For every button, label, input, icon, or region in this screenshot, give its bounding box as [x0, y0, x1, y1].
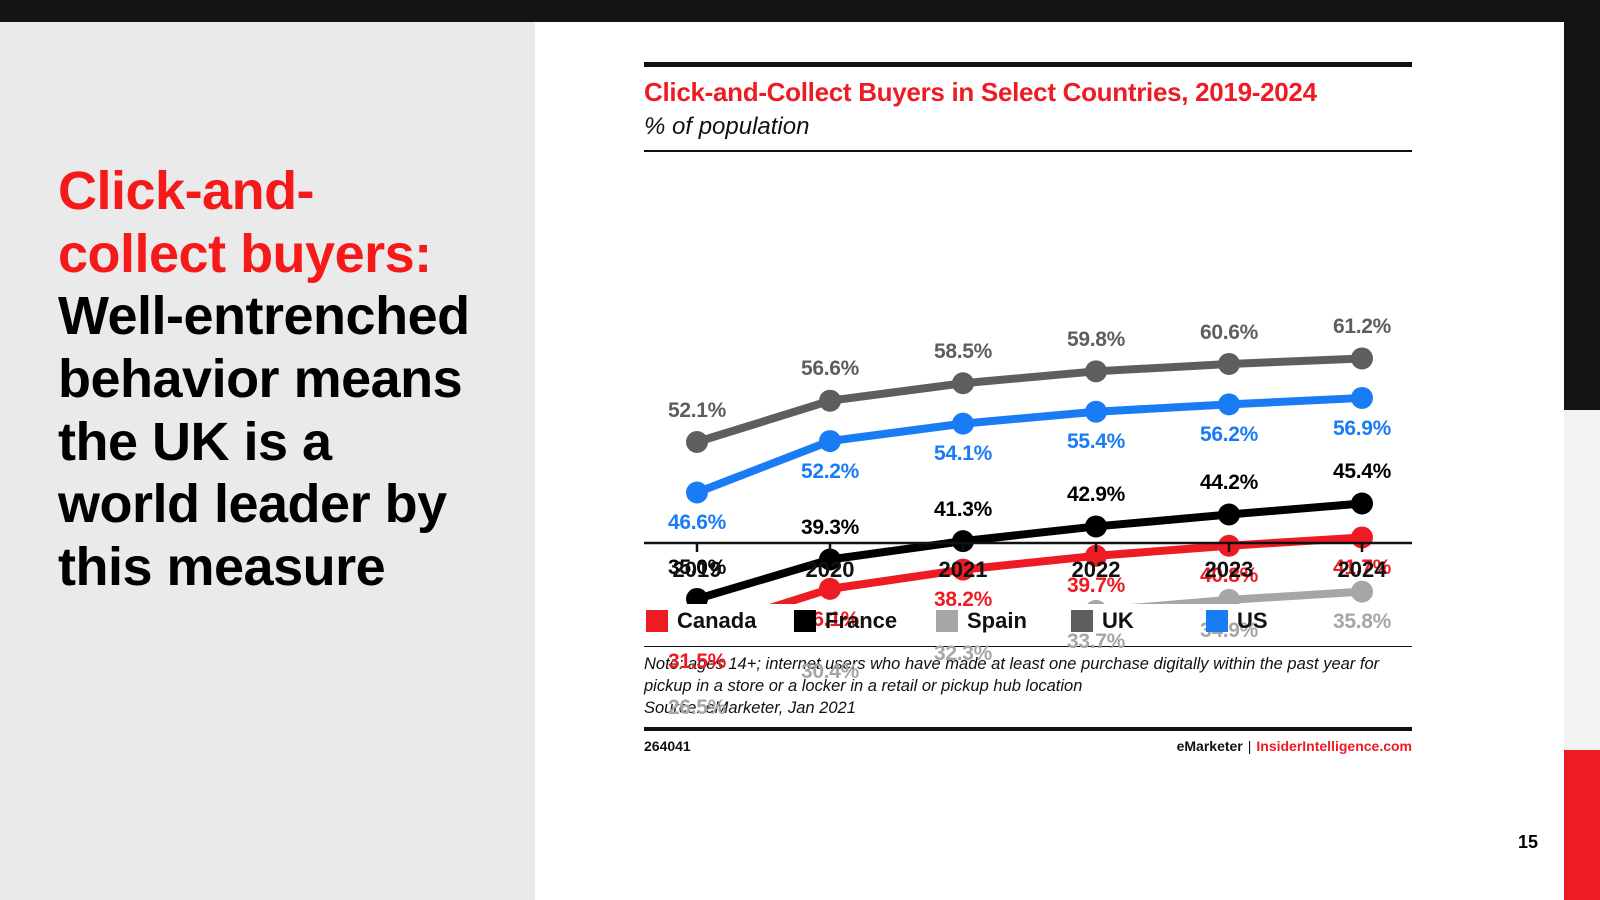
- legend-label-france: France: [825, 608, 897, 634]
- series-point-uk-2021[interactable]: [952, 372, 974, 394]
- chart-footer-brand: eMarketer|InsiderIntelligence.com: [1177, 738, 1412, 754]
- value-label-canada-2019: 31.5%: [668, 650, 726, 674]
- chart-lines-svg: [644, 152, 1412, 604]
- value-label-spain-2019: 26.5%: [668, 696, 726, 720]
- value-label-us-2023: 56.2%: [1200, 423, 1258, 447]
- chart-note-text: Note: ages 14+; internet users who have …: [644, 654, 1412, 698]
- series-point-france-2022[interactable]: [1085, 515, 1107, 537]
- legend-item-france[interactable]: France: [794, 608, 897, 634]
- value-label-us-2024: 56.9%: [1333, 417, 1391, 441]
- value-label-uk-2024: 61.2%: [1333, 315, 1391, 339]
- series-point-uk-2019[interactable]: [686, 431, 708, 453]
- legend-label-spain: Spain: [967, 608, 1027, 634]
- slide-right-red-band: [1564, 750, 1600, 900]
- value-label-uk-2023: 60.6%: [1200, 321, 1258, 345]
- chart-footer-id: 264041: [644, 738, 691, 754]
- series-point-uk-2024[interactable]: [1351, 347, 1373, 369]
- chart-top-rule: [644, 62, 1412, 67]
- value-label-uk-2022: 59.8%: [1067, 328, 1125, 352]
- value-label-france-2021: 41.3%: [934, 498, 992, 522]
- legend-item-spain[interactable]: Spain: [936, 608, 1027, 634]
- slide-headline: Click-and-collect buyers: Well-entrenche…: [58, 160, 478, 598]
- legend-label-uk: UK: [1102, 608, 1134, 634]
- chart-legend: CanadaFranceSpainUKUS: [644, 608, 1412, 646]
- chart-notes: Note: ages 14+; internet users who have …: [644, 654, 1412, 720]
- legend-item-canada[interactable]: Canada: [646, 608, 756, 634]
- x-tick-label-2023: 2023: [1205, 557, 1254, 583]
- series-point-us-2024[interactable]: [1351, 387, 1373, 409]
- x-tick-label-2022: 2022: [1072, 557, 1121, 583]
- value-label-france-2023: 44.2%: [1200, 471, 1258, 495]
- x-tick-label-2020: 2020: [806, 557, 855, 583]
- series-point-france-2023[interactable]: [1218, 503, 1240, 525]
- series-line-france: [697, 503, 1362, 598]
- value-label-us-2019: 46.6%: [668, 511, 726, 535]
- value-label-uk-2019: 52.1%: [668, 399, 726, 423]
- series-point-spain-2022[interactable]: [1085, 600, 1107, 604]
- footer-top-rule: [644, 727, 1412, 731]
- brand-separator: |: [1248, 738, 1252, 754]
- value-label-us-2022: 55.4%: [1067, 430, 1125, 454]
- slide-right-gray-band: [1564, 410, 1600, 750]
- headline-black-text: Well-entrenched behavior means the UK is…: [58, 286, 470, 597]
- x-tick-label-2024: 2024: [1338, 557, 1387, 583]
- series-point-us-2020[interactable]: [819, 430, 841, 452]
- value-label-spain-2021: 32.3%: [934, 642, 992, 666]
- slide-right-dark-band: [1564, 0, 1600, 410]
- series-point-france-2019[interactable]: [686, 588, 708, 604]
- legend-item-us[interactable]: US: [1206, 608, 1268, 634]
- slide-top-band: [0, 0, 1600, 22]
- headline-red-text: Click-and-collect buyers:: [58, 161, 432, 284]
- chart-plot-area: 31.5%36.1%38.2%39.7%40.8%41.7%35.0%39.3%…: [644, 152, 1412, 604]
- series-point-us-2021[interactable]: [952, 412, 974, 434]
- notes-top-divider: [644, 646, 1412, 648]
- chart-title: Click-and-Collect Buyers in Select Count…: [644, 77, 1412, 107]
- series-point-uk-2023[interactable]: [1218, 353, 1240, 375]
- chart-footer: 264041 eMarketer|InsiderIntelligence.com: [644, 738, 1412, 754]
- value-label-france-2024: 45.4%: [1333, 460, 1391, 484]
- x-tick-label-2019: 2019: [673, 557, 722, 583]
- legend-swatch-us: [1206, 610, 1228, 632]
- brand-insider-intelligence[interactable]: InsiderIntelligence.com: [1256, 738, 1412, 754]
- value-label-us-2021: 54.1%: [934, 442, 992, 466]
- value-label-us-2020: 52.2%: [801, 460, 859, 484]
- series-point-spain-2023[interactable]: [1218, 589, 1240, 604]
- brand-emarketer: eMarketer: [1177, 738, 1243, 754]
- legend-item-uk[interactable]: UK: [1071, 608, 1134, 634]
- legend-swatch-uk: [1071, 610, 1093, 632]
- legend-swatch-france: [794, 610, 816, 632]
- series-point-uk-2020[interactable]: [819, 389, 841, 411]
- chart-card: Click-and-Collect Buyers in Select Count…: [644, 62, 1412, 832]
- legend-label-canada: Canada: [677, 608, 756, 634]
- legend-swatch-spain: [936, 610, 958, 632]
- legend-swatch-canada: [646, 610, 668, 632]
- series-point-uk-2022[interactable]: [1085, 360, 1107, 382]
- series-point-france-2024[interactable]: [1351, 492, 1373, 514]
- series-point-spain-2024[interactable]: [1351, 580, 1373, 602]
- value-label-uk-2021: 58.5%: [934, 340, 992, 364]
- value-label-france-2022: 42.9%: [1067, 483, 1125, 507]
- value-label-france-2020: 39.3%: [801, 516, 859, 540]
- legend-label-us: US: [1237, 608, 1268, 634]
- x-tick-label-2021: 2021: [939, 557, 988, 583]
- value-label-uk-2020: 56.6%: [801, 357, 859, 381]
- series-point-us-2022[interactable]: [1085, 400, 1107, 422]
- page-number: 15: [1478, 832, 1538, 853]
- chart-subtitle: % of population: [644, 113, 1412, 141]
- series-point-us-2023[interactable]: [1218, 393, 1240, 415]
- value-label-spain-2020: 30.4%: [801, 660, 859, 684]
- series-point-us-2019[interactable]: [686, 481, 708, 503]
- chart-source-text: Source: eMarketer, Jan 2021: [644, 698, 1412, 720]
